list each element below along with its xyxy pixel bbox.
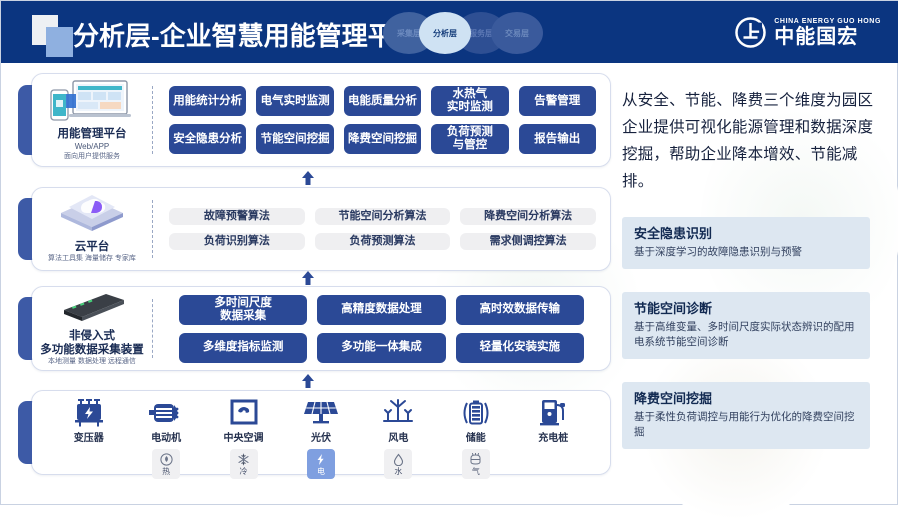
layer-pill-analysis[interactable]: 分析层 [419, 12, 471, 54]
feature-card-cost-reduction: 降费空间挖掘 基于柔性负荷调控与用能行为优化的降费空间挖掘 [622, 382, 870, 449]
equipment-label: 中央空调 [224, 429, 264, 444]
header-bar: 分析层-企业智慧用能管理平台 采集层 服务层 交易层 分析层 CHINA ENE… [1, 1, 898, 63]
tag-item[interactable]: 多维度指标监测 [179, 333, 307, 363]
transformer-icon [74, 399, 104, 427]
motor-icon [149, 399, 183, 427]
central-air-conditioner-icon [229, 399, 259, 427]
flow-arrow-up-icon [301, 271, 315, 285]
page-title: 分析层-企业智慧用能管理平台 [73, 16, 420, 53]
block-device: 非侵入式 多功能数据采集装置 本地测量 数据处理 远程通信 多时间尺度数据采集 … [31, 286, 611, 371]
energy-chip-cold[interactable]: 冷 [230, 449, 258, 479]
tag-item[interactable]: 需求侧调控算法 [460, 233, 596, 250]
equipment-row: 变压器 电动机 [32, 391, 610, 474]
energy-chip-label: 水 [394, 467, 402, 476]
cloud-name: 云平台 [75, 240, 110, 254]
device-name-line2: 多功能数据采集装置 [40, 343, 144, 357]
flow-arrow-up-icon [301, 171, 315, 185]
brand-english: CHINA ENERGY GUO HONG [774, 17, 881, 26]
equipment-charging-pile[interactable]: 充电桩 [520, 399, 586, 444]
tag-item[interactable]: 故障预警算法 [169, 208, 305, 225]
equipment-label: 光伏 [311, 429, 331, 444]
tag-item[interactable]: 多功能一体集成 [317, 333, 445, 363]
header-logo-square-blue [46, 27, 73, 57]
tag-item[interactable]: 电气实时监测 [256, 86, 333, 116]
energy-chip-label: 热 [162, 467, 170, 476]
platform-icon-group: 用能管理平台 Web/APP 面向用户提供服务 [32, 78, 152, 162]
tag-item[interactable]: 多时间尺度数据采集 [179, 295, 307, 325]
device-sub2: 本地测量 数据处理 远程通信 [48, 357, 136, 367]
energy-chip-heat[interactable]: 热 [152, 449, 180, 479]
energy-chip-gas[interactable]: 气 [462, 449, 490, 479]
block-equipment: 变压器 电动机 [31, 390, 611, 475]
feature-card-desc: 基于柔性负荷调控与用能行为优化的降费空间挖掘 [634, 410, 860, 440]
device-name-line1: 非侵入式 [69, 329, 115, 343]
feature-card-desc: 基于高维变量、多时间尺度实际状态辨识的配用电系统节能空间诊断 [634, 320, 860, 350]
equipment-storage[interactable]: 储能 气 [443, 399, 509, 479]
cold-snowflake-icon [237, 453, 250, 466]
brand-logo-text: CHINA ENERGY GUO HONG 中能国宏 [774, 17, 881, 48]
battery-storage-icon [461, 399, 491, 427]
feature-card-safety: 安全隐患识别 基于深度学习的故障隐患识别与预警 [622, 217, 870, 269]
block-cloud: 云平台 算法工具集 海量储存 专家库 故障预警算法 节能空间分析算法 降费空间分… [31, 187, 611, 271]
feature-card-title: 降费空间挖掘 [634, 390, 860, 408]
tag-item[interactable]: 节能空间分析算法 [315, 208, 451, 225]
tag-item[interactable]: 安全隐患分析 [169, 124, 246, 154]
solar-panel-icon [303, 399, 339, 427]
tag-item[interactable]: 负荷预测算法 [315, 233, 451, 250]
brand-chinese: 中能国宏 [774, 26, 881, 48]
equipment-label: 储能 [466, 429, 486, 444]
energy-chip-label: 冷 [240, 467, 248, 476]
platform-name: 用能管理平台 [58, 127, 127, 141]
device-tag-grid: 多时间尺度数据采集 高精度数据处理 高时效数据传输 多维度指标监测 多功能一体集… [153, 285, 610, 373]
tag-item[interactable]: 轻量化安装实施 [456, 333, 584, 363]
flow-arrow-up-icon [301, 374, 315, 388]
tag-item[interactable]: 水热气实时监测 [431, 86, 508, 116]
tag-item[interactable]: 节能空间挖掘 [256, 124, 333, 154]
brand-logo: CHINA ENERGY GUO HONG 中能国宏 [734, 15, 881, 49]
layer-pills: 采集层 服务层 交易层 分析层 [383, 12, 533, 54]
tag-item[interactable]: 告警管理 [519, 86, 596, 116]
platform-sub2: 面向用户提供服务 [64, 152, 120, 162]
equipment-solar[interactable]: 光伏 电 [288, 399, 354, 479]
feature-card-energy-saving: 节能空间诊断 基于高维变量、多时间尺度实际状态辨识的配用电系统节能空间诊断 [622, 292, 870, 359]
laptop-phone-dashboard-icon [49, 78, 135, 122]
energy-chip-label: 气 [472, 467, 480, 476]
intro-paragraph: 从安全、节能、降费三个维度为园区企业提供可视化能源管理和数据深度挖掘，帮助企业降… [622, 87, 880, 195]
equipment-label: 充电桩 [538, 429, 568, 444]
equipment-transformer[interactable]: 变压器 [56, 399, 122, 444]
equipment-wind[interactable]: 风电 水 [365, 399, 431, 479]
device-icon-group: 非侵入式 多功能数据采集装置 本地测量 数据处理 远程通信 [32, 290, 152, 367]
tag-item[interactable]: 负荷识别算法 [169, 233, 305, 250]
heat-icon [160, 453, 173, 466]
circle-g-logo-icon [734, 16, 767, 49]
platform-tag-grid: 用能统计分析 电气实时监测 电能质量分析 水热气实时监测 告警管理 安全隐患分析… [153, 76, 610, 164]
tag-item[interactable]: 高时效数据传输 [456, 295, 584, 325]
feature-card-title: 安全隐患识别 [634, 225, 860, 243]
platform-sub: Web/APP [75, 141, 110, 152]
tag-item[interactable]: 用能统计分析 [169, 86, 246, 116]
block-platform: 用能管理平台 Web/APP 面向用户提供服务 用能统计分析 电气实时监测 电能… [31, 73, 611, 167]
equipment-central-ac[interactable]: 中央空调 冷 [211, 399, 277, 479]
energy-chip-water[interactable]: 水 [384, 449, 412, 479]
tag-item[interactable]: 负荷预测与管控 [431, 124, 508, 154]
gas-icon [469, 453, 482, 466]
data-collection-box-icon [54, 290, 130, 324]
tag-item[interactable]: 降费空间挖掘 [344, 124, 421, 154]
energy-chip-electricity[interactable]: 电 [307, 449, 335, 479]
cloud-icon-group: 云平台 算法工具集 海量储存 专家库 [32, 195, 152, 264]
equipment-label: 电动机 [151, 429, 181, 444]
tag-item[interactable]: 电能质量分析 [344, 86, 421, 116]
cloud-platform-cube-icon [55, 195, 129, 235]
feature-card-title: 节能空间诊断 [634, 300, 860, 318]
cloud-sub2: 算法工具集 海量储存 专家库 [48, 254, 136, 264]
layer-pill-trade[interactable]: 交易层 [491, 12, 543, 54]
tag-item[interactable]: 高精度数据处理 [317, 295, 445, 325]
energy-chip-label: 电 [317, 467, 325, 476]
slide-page: 分析层-企业智慧用能管理平台 采集层 服务层 交易层 分析层 CHINA ENE… [0, 0, 898, 505]
equipment-motor[interactable]: 电动机 热 [133, 399, 199, 479]
tag-item[interactable]: 降费空间分析算法 [460, 208, 596, 225]
tag-item[interactable]: 报告输出 [519, 124, 596, 154]
wind-turbine-icon [382, 399, 414, 427]
equipment-label: 风电 [388, 429, 408, 444]
electricity-bolt-icon [314, 453, 327, 466]
feature-card-desc: 基于深度学习的故障隐患识别与预警 [634, 245, 860, 260]
water-drop-icon [392, 453, 405, 466]
equipment-label: 变压器 [74, 429, 104, 444]
cloud-tag-grid: 故障预警算法 节能空间分析算法 降费空间分析算法 负荷识别算法 负荷预测算法 需… [153, 198, 610, 260]
charging-pile-icon [538, 399, 568, 427]
